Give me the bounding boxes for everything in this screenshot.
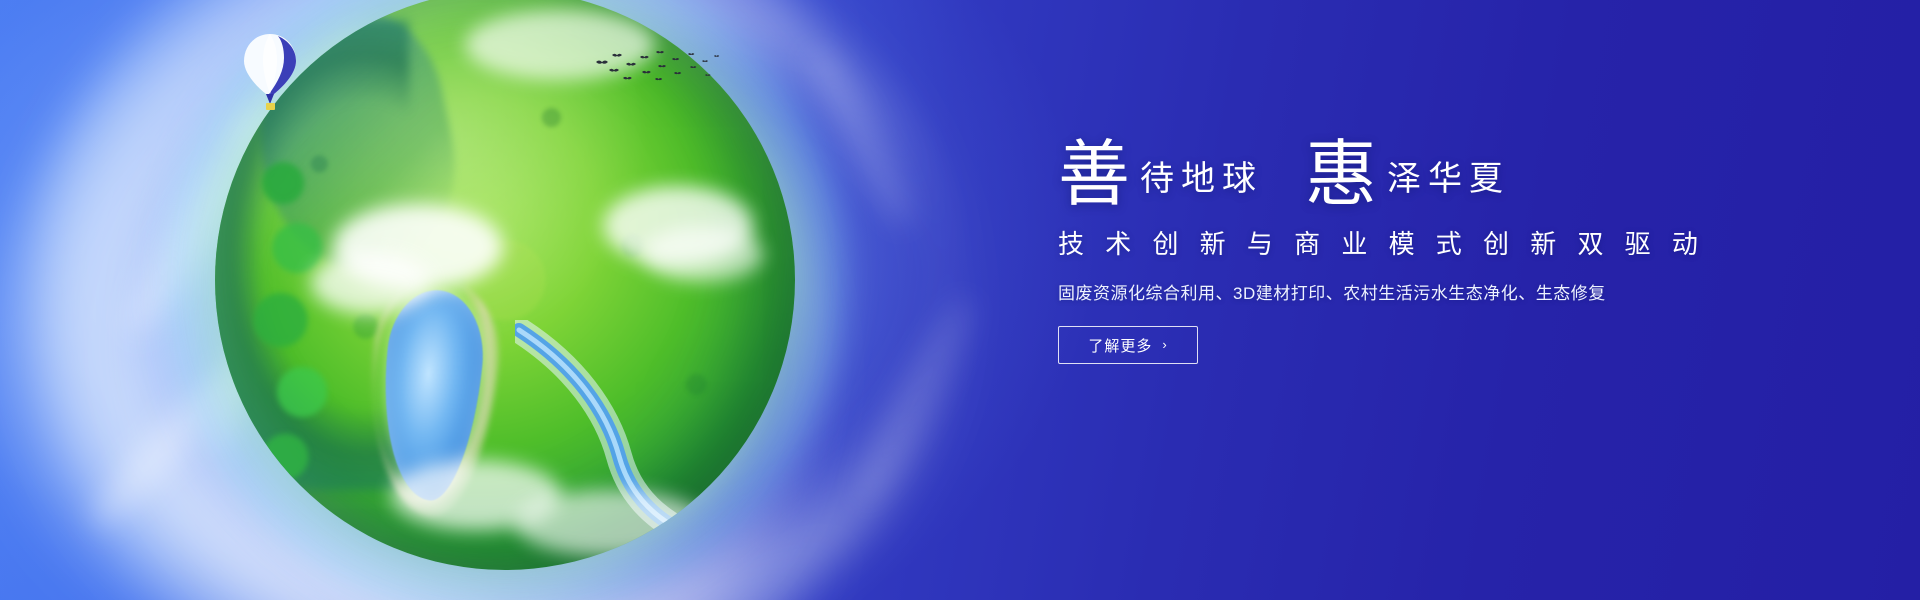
planet-cloud (311, 252, 431, 314)
headline-group-1: 善 待地球 (1058, 132, 1263, 204)
headline-group-2: 惠 泽华夏 (1305, 132, 1510, 204)
rim-tree-cluster (235, 140, 355, 500)
headline-big-char-1: 善 (1058, 138, 1130, 210)
hot-air-balloon-icon (240, 32, 300, 114)
cloud-wisp (843, 289, 986, 511)
planet-cloud (643, 226, 763, 282)
learn-more-label: 了解更多 (1088, 335, 1152, 356)
headline-small-text-2: 泽华夏 (1387, 162, 1510, 204)
description-text: 固废资源化综合利用、3D建材打印、农村生活污水生态净化、生态修复 (1058, 279, 1758, 304)
headline: 善 待地球 惠 泽华夏 (1058, 118, 1758, 204)
learn-more-button[interactable]: 了解更多 › (1058, 326, 1198, 364)
headline-small-text-1: 待地球 (1140, 162, 1263, 204)
hero-copy: 善 待地球 惠 泽华夏 技 术 创 新 与 商 业 模 式 创 新 双 驱 动 … (1058, 118, 1758, 364)
subheadline: 技 术 创 新 与 商 业 模 式 创 新 双 驱 动 (1058, 224, 1758, 261)
hero-banner: 善 待地球 惠 泽华夏 技 术 创 新 与 商 业 模 式 创 新 双 驱 动 … (0, 0, 1920, 600)
bird-flock-icon (592, 48, 722, 88)
headline-big-char-2: 惠 (1305, 138, 1377, 210)
chevron-right-icon: › (1162, 338, 1167, 351)
planet-cloud (515, 490, 705, 556)
